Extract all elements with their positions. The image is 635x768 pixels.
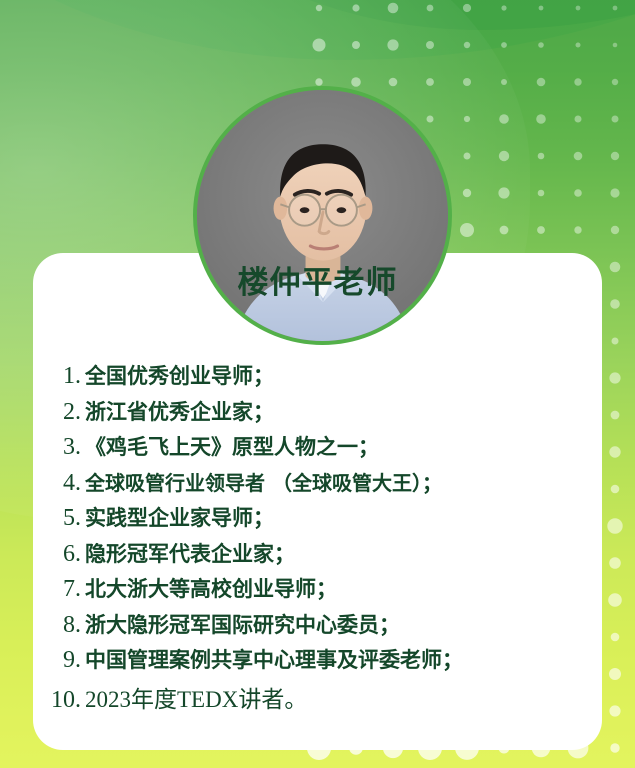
credential-number: 7. xyxy=(33,576,85,603)
speaker-profile-poster: 楼仲平老师 1.全国优秀创业导师；2.浙江省优秀企业家；3.《鸡毛飞上天》原型人… xyxy=(0,0,635,768)
credential-item: 3.《鸡毛飞上天》原型人物之一； xyxy=(33,431,602,467)
credential-number: 6. xyxy=(33,541,85,568)
credential-text: 浙江省优秀企业家； xyxy=(85,396,274,426)
credential-text: 全国优秀创业导师； xyxy=(85,360,274,390)
speaker-name-label: 楼仲平老师 xyxy=(238,268,398,299)
credential-item: 1.全国优秀创业导师； xyxy=(33,360,602,396)
credential-text: 《鸡毛飞上天》原型人物之一； xyxy=(85,431,379,461)
credential-item: 6.隐形冠军代表企业家； xyxy=(33,538,602,574)
credential-number: 3. xyxy=(33,434,85,461)
credential-item: 4.全球吸管行业领导者 （全球吸管大王）； xyxy=(33,467,602,503)
credential-item: 7.北大浙大等高校创业导师； xyxy=(33,573,602,609)
credential-text: 隐形冠军代表企业家； xyxy=(85,538,295,568)
background-arc-lower xyxy=(120,0,635,30)
credential-text: 实践型企业家导师； xyxy=(85,502,274,532)
credential-item: 8.浙大隐形冠军国际研究中心委员； xyxy=(33,609,602,645)
credential-text: 浙大隐形冠军国际研究中心委员； xyxy=(85,609,400,639)
speaker-name: 楼仲平老师 xyxy=(0,268,635,299)
credential-text: 全球吸管行业领导者 （全球吸管大王）； xyxy=(85,467,442,496)
credential-number: 9. xyxy=(33,647,85,674)
credential-item: 5.实践型企业家导师； xyxy=(33,502,602,538)
credential-item: 10.2023年度TEDX讲者。 xyxy=(33,680,602,716)
credential-number: 5. xyxy=(33,505,85,532)
credential-list: 1.全国优秀创业导师；2.浙江省优秀企业家；3.《鸡毛飞上天》原型人物之一；4.… xyxy=(33,360,602,715)
speaker-portrait xyxy=(193,86,452,345)
background-arc-upper xyxy=(0,0,635,60)
credential-number: 4. xyxy=(33,470,85,497)
credential-text: 北大浙大等高校创业导师； xyxy=(85,573,337,603)
credential-item: 9.中国管理案例共享中心理事及评委老师； xyxy=(33,644,602,680)
credential-number: 1. xyxy=(33,363,85,390)
credential-item: 2.浙江省优秀企业家； xyxy=(33,396,602,432)
credential-number: 10. xyxy=(33,687,85,714)
credential-number: 8. xyxy=(33,612,85,639)
credential-text: 2023年度TEDX讲者。 xyxy=(85,680,307,714)
credential-number: 2. xyxy=(33,399,85,426)
credential-text: 中国管理案例共享中心理事及评委老师； xyxy=(85,644,463,674)
